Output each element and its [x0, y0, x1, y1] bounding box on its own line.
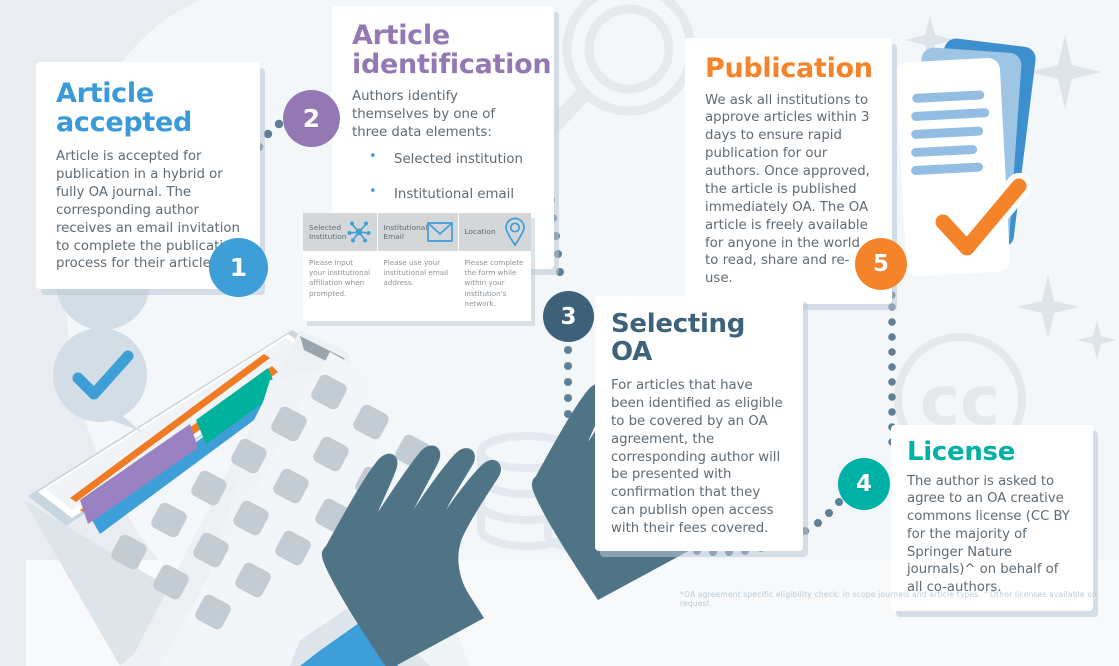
- card-title-selecting-oa: Selecting OA: [611, 311, 787, 366]
- step-badge-3: 3: [543, 291, 594, 342]
- list-item: Institutional email: [352, 186, 534, 204]
- widget-column-location: Location Please complete the form while …: [458, 213, 531, 321]
- card-body-selecting-oa: For articles that have been identified a…: [611, 377, 787, 538]
- step-badge-2: 2: [283, 90, 340, 147]
- card-body-license: The author is asked to agree to an OA cr…: [907, 473, 1077, 597]
- envelope-icon: [427, 222, 453, 242]
- widget-column-text: Please complete the form while within yo…: [458, 251, 531, 314]
- widget-heading-label: Institutional Email: [383, 223, 427, 242]
- identification-options-widget: Selected Institution: [303, 213, 531, 321]
- title-line: identification: [352, 49, 551, 80]
- card-title-article-identification: Article identification: [352, 22, 534, 79]
- widget-header: Selected Institution: [303, 213, 377, 251]
- card-license: License The author is asked to agree to …: [891, 425, 1093, 611]
- step-badge-5: 5: [855, 238, 907, 290]
- widget-header: Location: [458, 213, 531, 251]
- footnote-text: *OA agreement specific eligibility check…: [680, 590, 1110, 608]
- step-badge-1: 1: [209, 238, 268, 297]
- card-title-article-accepted: Article accepted: [56, 80, 240, 137]
- title-line: OA: [611, 337, 652, 367]
- widget-column-selected-institution: Selected Institution: [303, 213, 377, 321]
- title-line: Article: [56, 78, 154, 109]
- widget-heading-label: Selected Institution: [309, 223, 346, 242]
- list-item: Selected institution: [352, 151, 534, 169]
- widget-column-institutional-email: Institutional Email Please use your inst…: [377, 213, 458, 321]
- widget-header: Institutional Email: [377, 213, 458, 251]
- map-pin-icon: [504, 218, 526, 246]
- title-line: Selecting: [611, 309, 745, 339]
- widget-column-text: Please input your institutional affiliat…: [303, 251, 377, 304]
- card-selecting-oa: Selecting OA For articles that have been…: [595, 296, 803, 551]
- network-nodes-icon: [346, 219, 372, 245]
- title-line: accepted: [56, 107, 192, 138]
- infographic-canvas: cc: [0, 0, 1119, 666]
- step-badge-4: 4: [838, 458, 890, 510]
- card-title-license: License: [907, 439, 1077, 467]
- card-title-publication: Publication: [705, 55, 872, 84]
- card-body-article-identification: Authors identify themselves by one of th…: [352, 88, 534, 142]
- card-body-publication: We ask all institutions to approve artic…: [705, 92, 872, 289]
- widget-column-text: Please use your institutional email addr…: [377, 251, 458, 294]
- widget-heading-label: Location: [464, 227, 495, 236]
- title-line: Article: [352, 20, 450, 51]
